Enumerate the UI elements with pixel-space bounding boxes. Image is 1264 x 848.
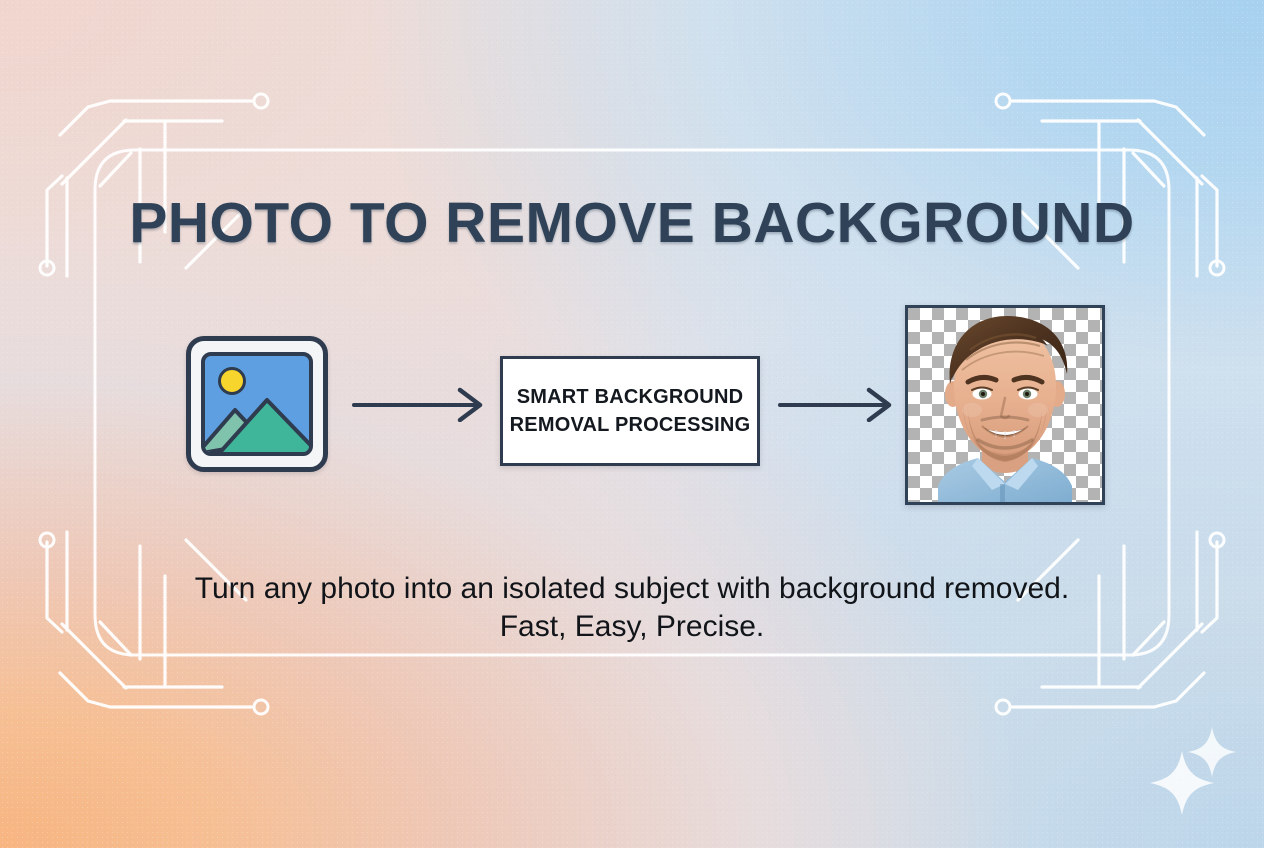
sparkle-decoration	[1148, 723, 1238, 828]
image-icon-scene	[201, 352, 313, 456]
processing-step-label: SMART BACKGROUND REMOVAL PROCESSING	[510, 383, 751, 440]
result-photo-frame	[905, 305, 1105, 505]
arrow-right-icon-1	[352, 386, 487, 422]
portrait-illustration	[908, 308, 1102, 502]
caption-text: Turn any photo into an isolated subject …	[0, 570, 1264, 647]
processing-line-1: SMART BACKGROUND	[510, 383, 751, 411]
mountain-shape	[205, 376, 313, 454]
page-title: PHOTO TO REMOVE BACKGROUND	[0, 190, 1264, 256]
image-placeholder-icon	[186, 336, 328, 472]
poster-canvas: PHOTO TO REMOVE BACKGROUND SMART BACKGRO…	[0, 0, 1264, 848]
processing-step-box: SMART BACKGROUND REMOVAL PROCESSING	[500, 356, 760, 466]
sparkle-small-icon	[1188, 727, 1236, 777]
processing-line-2: REMOVAL PROCESSING	[510, 411, 751, 439]
arrow-right-icon-2	[778, 386, 896, 422]
sparkle-large-icon	[1150, 751, 1214, 815]
